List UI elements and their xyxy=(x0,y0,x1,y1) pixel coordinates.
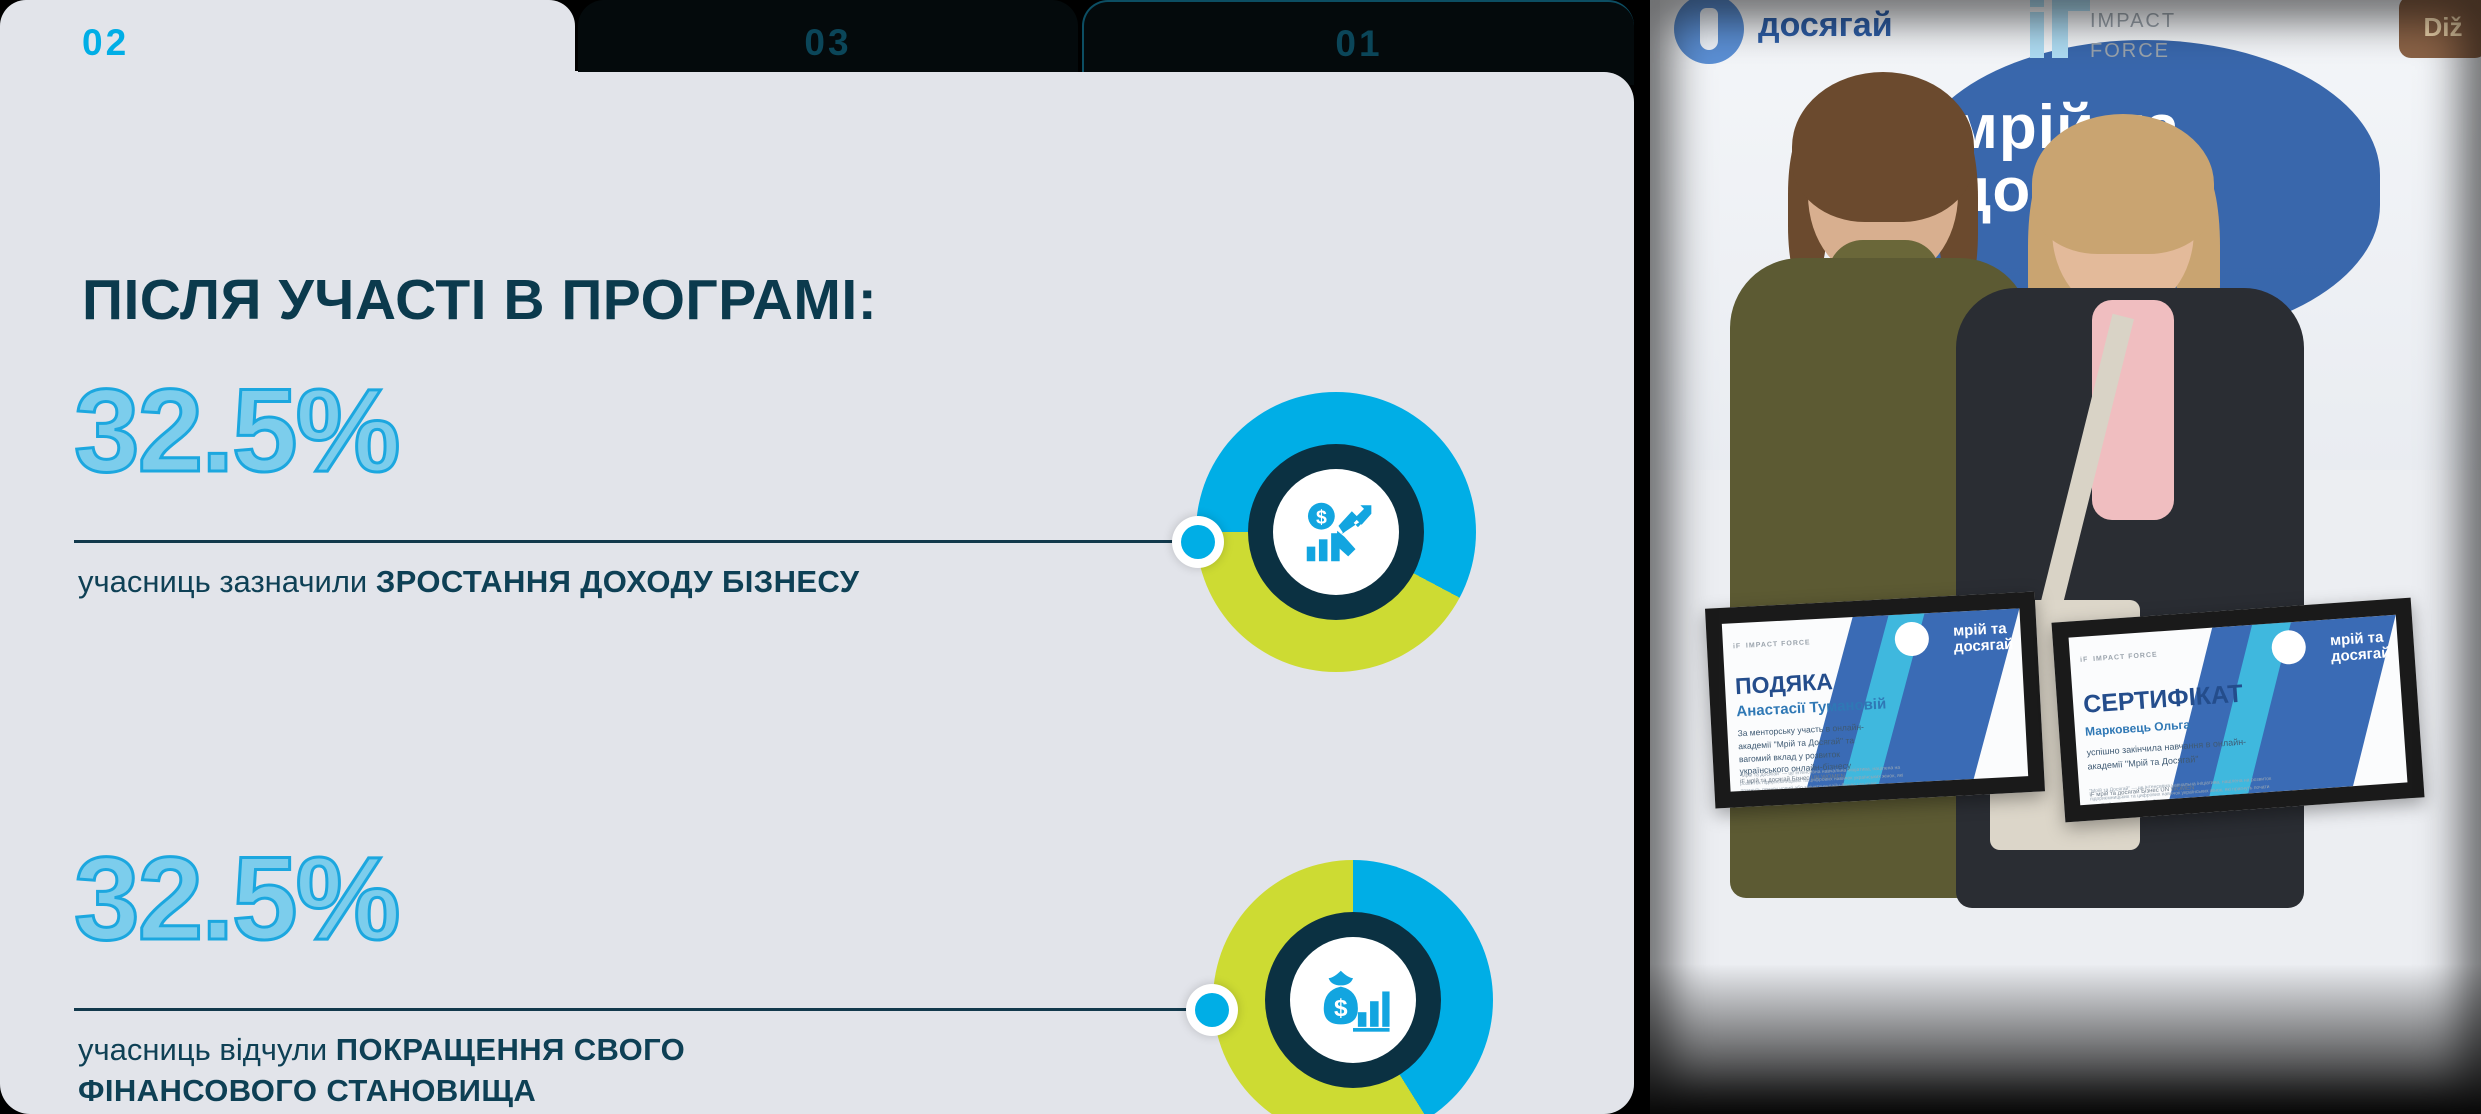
money-bag-chart-icon: $ xyxy=(1314,961,1392,1039)
stat-1-value: 32.5% xyxy=(74,372,399,490)
event-photo: мрій та досягай досягай IMPACT FORCE Dіž xyxy=(1650,0,2481,1114)
stat-2-value: 32.5% xyxy=(74,840,399,958)
corner-badge: Dіž xyxy=(2399,0,2481,58)
person-right-hair xyxy=(2032,114,2214,254)
stat-2-rule xyxy=(74,1008,1191,1011)
donut-chart-2: $ xyxy=(1213,860,1493,1114)
if-logo-i xyxy=(2030,12,2044,58)
svg-text:$: $ xyxy=(1334,995,1348,1022)
stat-1-desc-bold: ЗРОСТАННЯ ДОХОДУ БІЗНЕСУ xyxy=(376,564,860,599)
tab-02-label: 02 xyxy=(82,22,129,64)
money-growth-chart-icon: $ xyxy=(1297,493,1375,571)
tab-01-label: 01 xyxy=(1335,23,1382,65)
photo-bottom-fade xyxy=(1650,964,2481,1114)
banner-brand-label: досягай xyxy=(1758,6,1893,45)
person-left-hair xyxy=(1792,72,1974,222)
stat-2-description: учасниць відчули ПОКРАЩЕННЯ СВОГО ФІНАНС… xyxy=(78,1030,878,1112)
if-logo-f xyxy=(2052,0,2068,58)
certificate-thanks-frame xyxy=(1705,592,2045,809)
stat-2-desc-lead: учасниць відчули xyxy=(78,1032,336,1067)
donut-1-connector-dot xyxy=(1172,516,1224,568)
svg-text:$: $ xyxy=(1316,506,1327,528)
impact-force-line1: IMPACT xyxy=(2090,6,2176,36)
tab-03-label: 03 xyxy=(804,22,851,64)
stat-1-description: учасниць зазначили ЗРОСТАННЯ ДОХОДУ БІЗН… xyxy=(78,562,860,603)
certificate-thanks: iF IMPACT FORCE ПОДЯКА Анастасії Туманов… xyxy=(1705,592,2045,809)
page-title: ПІСЛЯ УЧАСТІ В ПРОГРАМІ: xyxy=(82,267,877,333)
content-panel: ПІСЛЯ УЧАСТІ В ПРОГРАМІ: 32.5% учасниць … xyxy=(0,72,1634,1114)
donut-2-connector-dot-core xyxy=(1195,993,1229,1027)
impact-force-label: IMPACT FORCE xyxy=(2090,6,2176,66)
certificate-diploma-frame xyxy=(2051,598,2424,823)
donut-2-disc: $ xyxy=(1290,937,1416,1063)
dream-achieve-logo-icon xyxy=(1674,0,1744,64)
impact-force-line2: FORCE xyxy=(2090,36,2176,66)
donut-1-connector-dot-core xyxy=(1181,525,1215,559)
certificate-diploma: iF IMPACT FORCE СЕРТИФІКАТ Марковець Оль… xyxy=(2051,598,2424,823)
donut-2-hub: $ xyxy=(1265,912,1441,1088)
donut-1-hub: $ xyxy=(1248,444,1424,620)
donut-1-disc: $ xyxy=(1273,469,1399,595)
stat-1-desc-lead: учасниць зазначили xyxy=(78,564,376,599)
presentation-slide: 02 03 01 ПІСЛЯ УЧАСТІ В ПРОГРАМІ: 32.5% … xyxy=(0,0,1634,1114)
donut-chart-1: $ xyxy=(1196,392,1476,672)
slide-stage: 02 03 01 ПІСЛЯ УЧАСТІ В ПРОГРАМІ: 32.5% … xyxy=(0,0,2481,1114)
stat-1-rule xyxy=(74,540,1178,543)
donut-2-connector-dot xyxy=(1186,984,1238,1036)
